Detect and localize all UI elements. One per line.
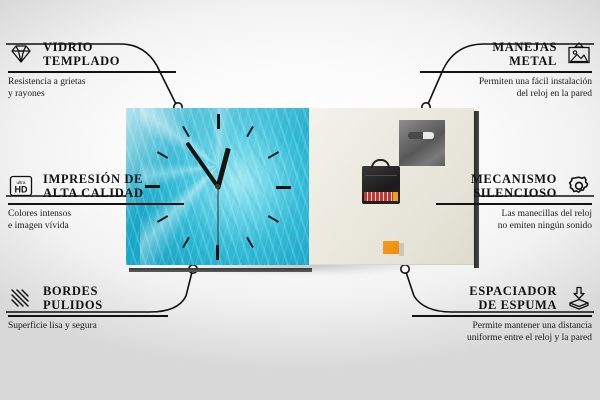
infographic-canvas: VIDRIO TEMPLADO Resistencia a grietas y … [0,0,600,400]
feature-subtitle-line1: Permiten una fácil instalación [420,76,592,88]
feature-title-line1: IMPRESIÓN DE [43,172,144,186]
hanging-frame-icon [566,42,592,66]
feature-bordes-pulidos: BORDES PULIDOS Superficie lisa y segura [8,284,168,332]
ultra-hd-badge-icon: ultra HD [8,174,34,198]
feature-title-line1: MANEJAS [492,40,557,54]
diamond-icon [8,42,34,66]
feature-mecanismo-silencioso: MECANISMO SILENCIOSO Las manecillas del … [436,172,592,232]
feature-subtitle-line1: Las manecillas del reloj [436,208,592,220]
clock-mechanism [362,166,400,204]
feature-title-line2: METAL [492,54,557,68]
mechanism-battery-chip [393,192,398,201]
feature-vidrio-templado: VIDRIO TEMPLADO Resistencia a grietas y … [8,40,176,100]
feature-subtitle-line1: Permite mantener una distancia [412,320,592,332]
feature-title-line2: ALTA CALIDAD [43,186,144,200]
clock-hour-hand [215,147,231,189]
feature-rule [420,71,592,73]
feature-subtitle-line2: no emiten ningún sonido [436,220,592,232]
feature-subtitle-line1: Superficie lisa y segura [8,320,168,332]
feature-title-line2: PULIDOS [43,298,103,312]
metal-hanger-plate [399,120,445,166]
feature-rule [8,71,176,73]
feature-title-line1: VIDRIO [43,40,120,54]
mechanism-seam [365,175,397,176]
feature-subtitle-line2: e imagen vívida [8,220,184,232]
panel-bottom-edge [129,268,312,272]
polished-edge-icon [8,286,34,310]
feature-subtitle-line2: uniforme entre el reloj y la pared [412,332,592,344]
feature-rule [8,203,184,205]
feature-rule [412,315,592,317]
feature-rule [8,315,168,317]
feature-title-line2: SILENCIOSO [471,186,557,200]
feature-manejas-metal: MANEJAS METAL Permiten una fácil instala… [420,40,592,100]
feature-subtitle-line2: y rayones [8,88,176,100]
feature-subtitle-line1: Resistencia a grietas [8,76,176,88]
feature-rule [436,203,592,205]
clock-minute-hand [185,141,220,189]
feature-espaciador-espuma: ESPACIADOR DE ESPUMA Permite mantener un… [412,284,592,344]
feature-title-line1: BORDES [43,284,103,298]
feature-impresion-alta-calidad: ultra HD IMPRESIÓN DE ALTA CALIDAD Color… [8,172,184,232]
feature-subtitle-line1: Colores intensos [8,208,184,220]
press-down-pad-icon [566,286,592,310]
gear-icon [566,174,592,198]
mechanism-bail [371,159,390,168]
feature-title-line1: ESPACIADOR [469,284,557,298]
hanger-slot [408,132,434,139]
feature-title-line2: DE ESPUMA [469,298,557,312]
foam-spacer [383,241,399,254]
svg-text:HD: HD [15,185,28,195]
feature-title-line1: MECANISMO [471,172,557,186]
clock-center-pin [215,184,220,189]
feature-subtitle-line2: del reloj en la pared [420,88,592,100]
feature-title-line2: TEMPLADO [43,54,120,68]
clock-second-hand [217,185,218,247]
